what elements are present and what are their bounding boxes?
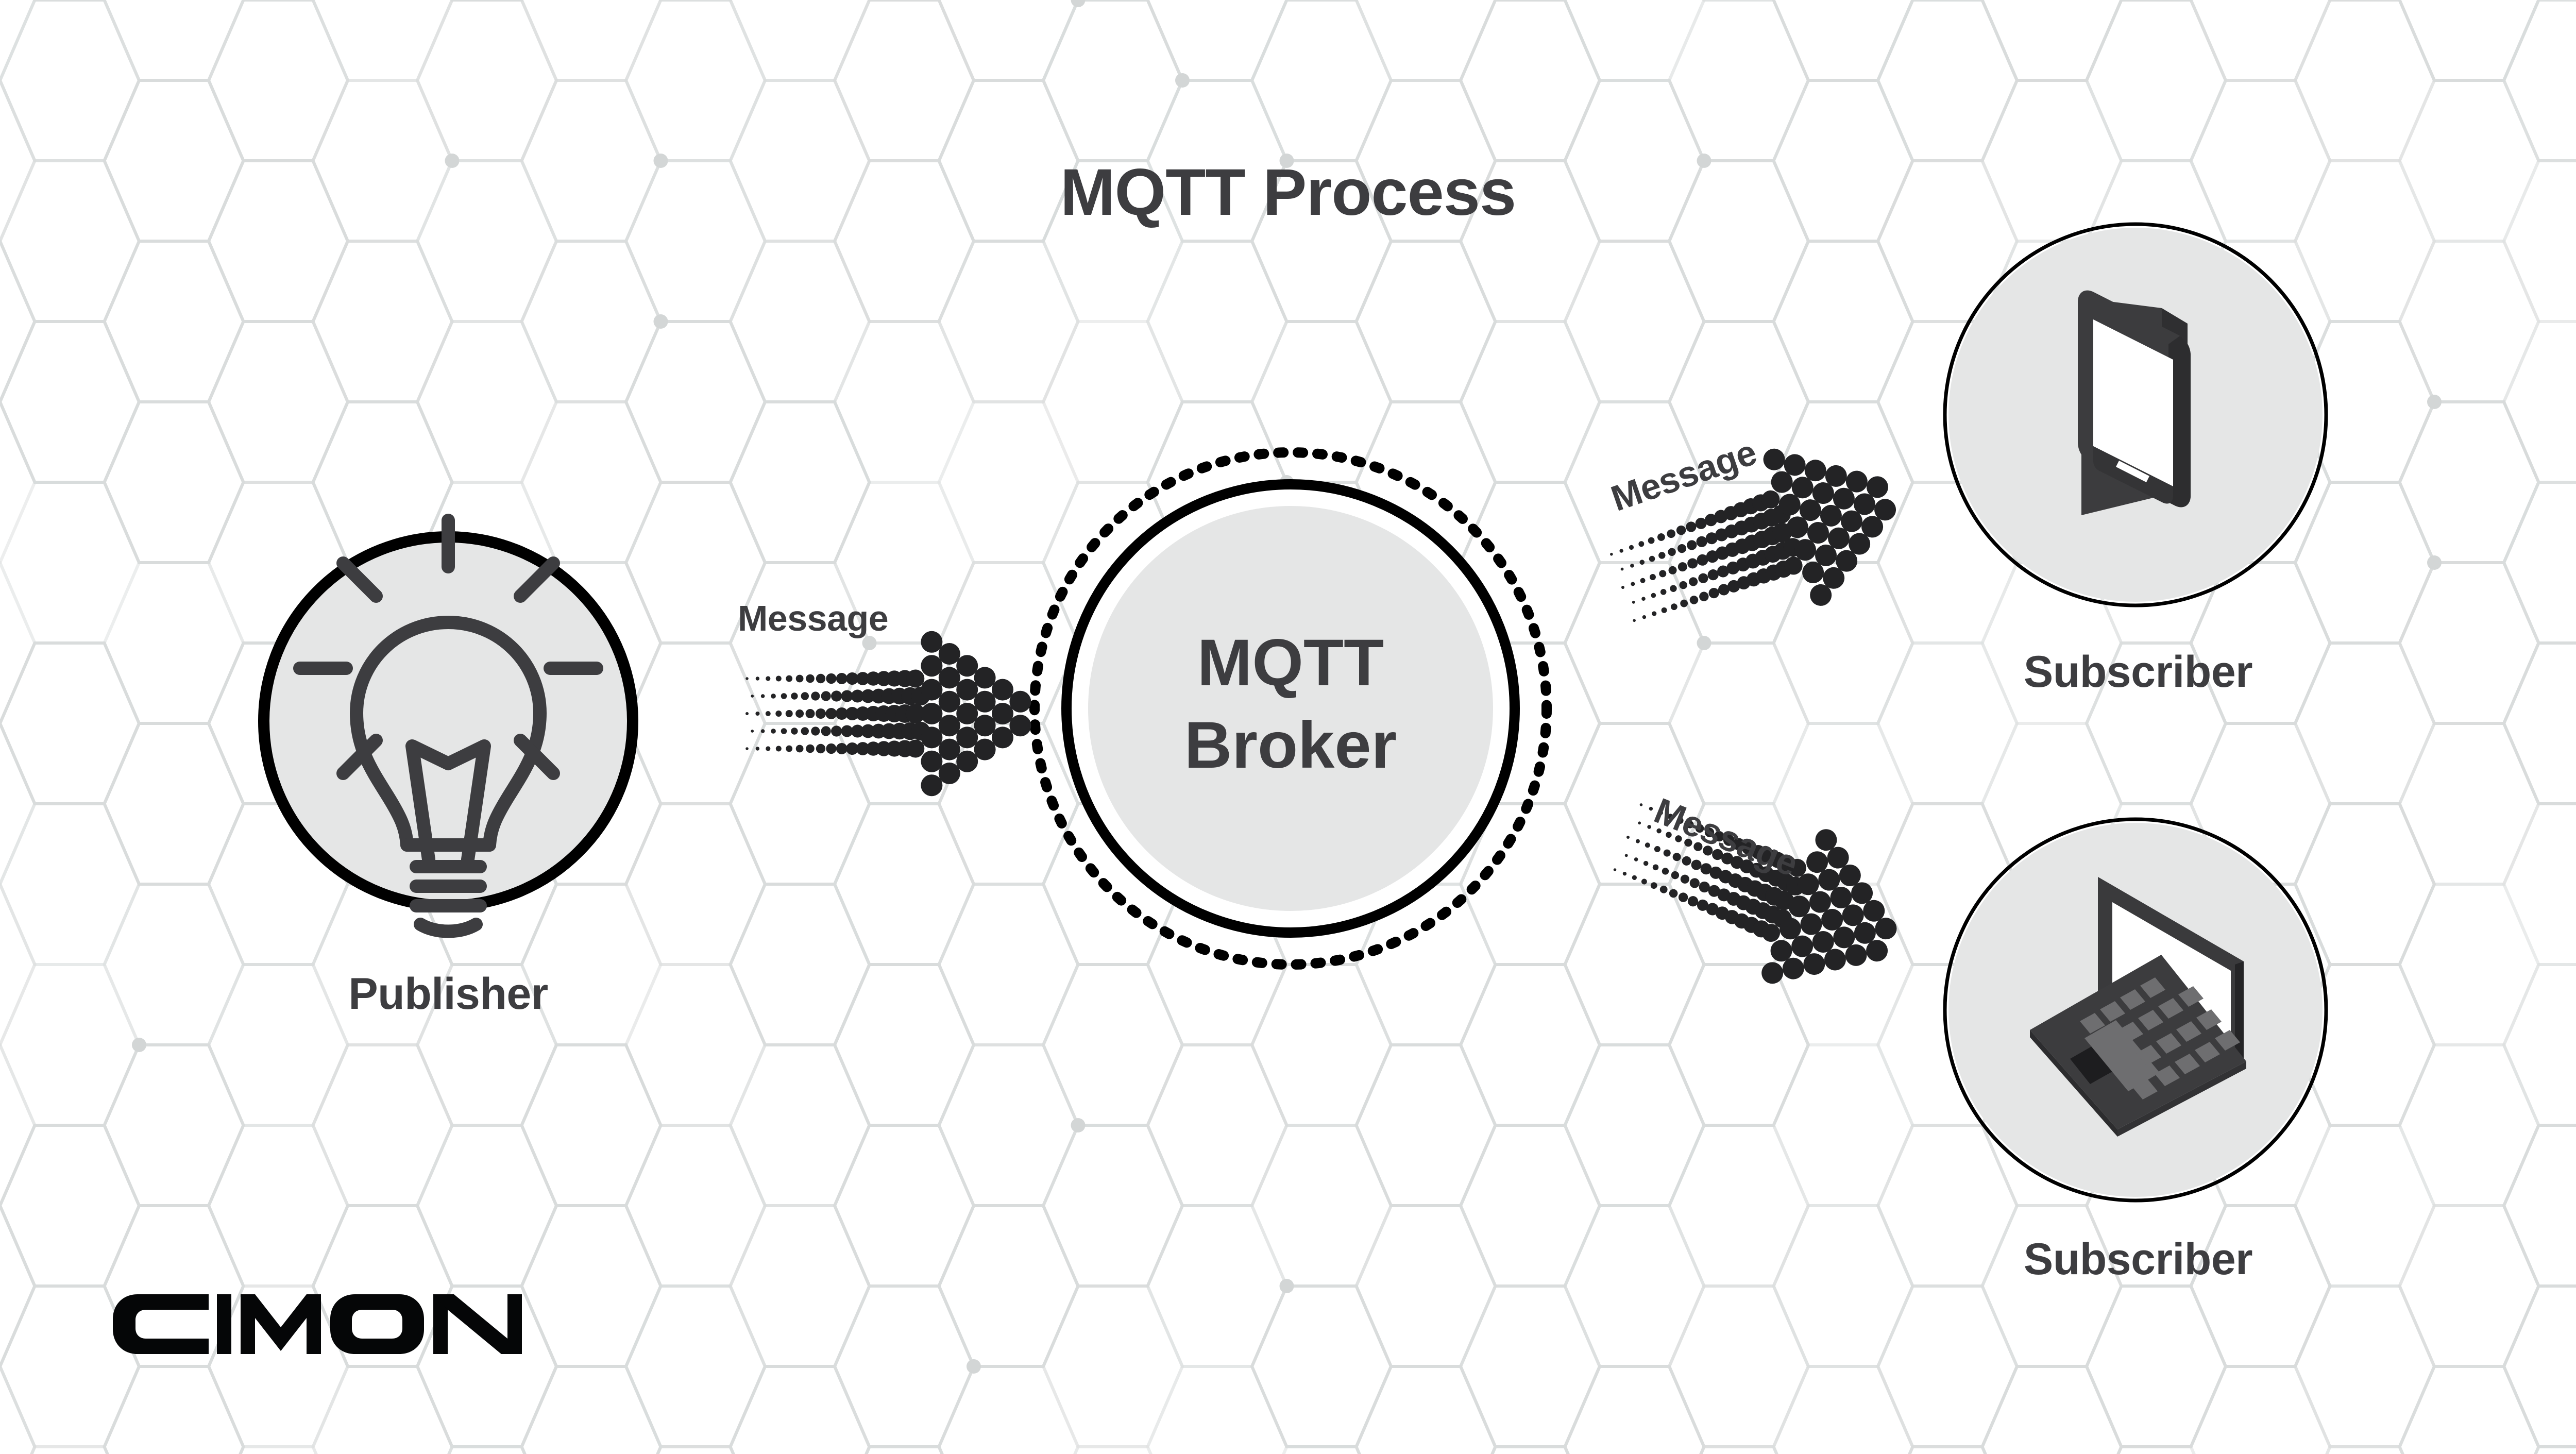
arrowhead-dot [1760,446,1788,473]
arrowhead-dot [974,691,996,713]
arrowhead-dot [921,726,942,748]
arrowhead-dot [956,751,978,772]
arrow-dot [1659,885,1669,894]
arrow-dot [776,746,782,752]
arrow-dot [1619,548,1623,553]
arrowhead-dot [939,739,960,760]
arrow-dot [755,712,759,716]
arrow-dot [821,726,831,736]
arrow-dot [796,675,804,683]
arrow-dot [1688,576,1699,587]
arrowhead-dot [956,655,978,677]
arrowhead-dot [921,679,942,701]
arrowhead-dot [992,703,1013,724]
arrow-dot [1676,543,1688,554]
arrow-dot [1629,545,1635,551]
arrow-dot [781,693,787,699]
arrow-dot [745,677,749,680]
cimon-logo [113,1294,522,1354]
arrow-dot [1622,871,1628,876]
arrow-dot [1677,891,1689,904]
smartphone-icon [2078,291,2191,515]
arrowhead-dot [1009,691,1031,713]
diagram-canvas: MQTT Broker [0,0,2576,1454]
arrow-dot [801,727,809,735]
arrow-dot [786,675,792,682]
arrow-dot [831,725,842,736]
broker-label-line1: MQTT [1197,626,1384,700]
arrow-dot [1650,881,1658,890]
arrow-dot [806,745,815,753]
arrow-dot [1631,874,1637,881]
arrow-dot [816,744,825,753]
arrowhead-dot [956,679,978,701]
arrow-dot [1660,606,1668,614]
arrow-dot [806,709,815,718]
arrow-dot [806,674,815,683]
arrow-dot [1659,588,1667,596]
arrow-dot [1667,565,1677,576]
publisher-node[interactable] [264,520,633,932]
arrow-publisher-to-broker [745,631,1031,796]
arrow-dot [751,695,754,698]
arrow-dot [825,708,837,719]
arrow-dot [775,711,782,717]
arrow-dot [786,746,792,752]
arrow-dot [831,690,842,701]
arrow-dot [821,691,831,701]
arrowhead-dot [992,679,1013,701]
arrowhead-dot [939,643,960,665]
arrow-dot [816,708,826,719]
subscriber-laptop-label: Subscriber [1947,1234,2329,1285]
arrowhead-dot [939,715,960,736]
subscriber-laptop-node[interactable] [1945,819,2326,1201]
arrow-dot [1635,838,1640,843]
arrow-dot [766,746,770,751]
arrow-dot [1669,584,1677,593]
arrow-dot [766,711,771,716]
arrowhead-dot [939,691,960,713]
arrowhead-dot [921,631,942,653]
arrow-dot [906,670,924,688]
arrow-dot [745,747,749,750]
arrowhead-dot [1758,959,1787,987]
arrow-dot [1637,821,1641,825]
arrow-dot [826,743,836,754]
arrow-dot [781,728,787,734]
arrow-broker-to-subscriber-laptop [1596,760,1922,1020]
broker-label-line2: Broker [1184,708,1397,782]
arrowhead-dot [921,774,942,796]
arrow-dot [1613,868,1617,871]
arrow-dot [1638,540,1645,548]
arrowhead-dot [974,739,996,760]
arrow-dot [791,728,798,734]
arrowhead-dot [974,667,996,688]
arrow-dot [1649,573,1656,581]
arrow-dot [1661,867,1670,875]
arrow-dot [1670,870,1680,881]
arrowhead-dot [939,763,960,784]
arrow-dot [1648,555,1656,563]
arrow-dot [776,676,782,682]
arrowhead-dot [1009,715,1031,736]
arrow-dot [796,745,804,753]
arrow-dot [811,691,820,700]
arrow-dot [1681,855,1692,867]
arrow-dot [1658,569,1667,579]
arrow-dot [761,729,765,733]
arrow-dot [786,710,793,717]
arrow-dot [836,673,848,684]
arrow-dot [1675,524,1687,536]
arrow-dot [1679,873,1690,885]
arrow-dot [1676,561,1688,573]
arrow-dot [771,694,776,699]
arrow-dot [1686,539,1698,551]
arrow-dot [1630,563,1635,568]
arrow-dot [791,692,798,699]
arrow-dot [766,676,770,681]
broker-node[interactable]: MQTT Broker [1035,452,1547,965]
arrow-dot [1671,852,1682,863]
arrow-dot [756,747,759,750]
arrowhead-dot [992,726,1013,748]
arrowhead-dot [956,726,978,748]
arrow-dot [771,729,776,734]
arrow-dot [1641,596,1646,601]
arrow-broker-to-subscriber-phone [1595,417,1919,666]
arrow-dot [826,673,836,684]
arrow-dot [1634,857,1639,862]
arrow-dot [1639,559,1645,565]
arrow-dot [1650,592,1656,598]
arrow-dot [801,692,809,700]
arrow-dot [1663,848,1672,857]
arrow-dot [1609,552,1613,556]
arrow-dot [1630,581,1635,586]
arrow-dot [1651,611,1657,617]
arrow-dot [816,674,825,683]
arrow-dot [1697,572,1709,584]
arrowhead-dot [974,715,996,736]
page-title: MQTT Process [0,155,2576,230]
arrow-dot [756,677,759,680]
arrow-dot [1652,864,1659,871]
arrow-dot [761,694,765,698]
publisher-label: Publisher [222,969,675,1020]
arrow-dot [1656,532,1666,542]
arrowhead-dot [939,667,960,688]
arrow-dot [1624,854,1629,858]
arrow-dot [1668,888,1679,899]
arrow-dot [1633,619,1636,622]
arrow-dot [1647,536,1655,545]
arrow-dot [1639,577,1646,584]
arrow-dot [1644,842,1651,849]
arrow-dot [1666,528,1676,539]
arrowhead-dot [921,703,942,724]
arrowhead-dot [956,703,978,724]
subscriber-phone-node[interactable] [1945,224,2326,605]
arrow-dot [1653,845,1662,853]
arrow-dot [1642,615,1647,619]
arrowhead-dot [921,655,942,677]
arrowhead-dot [921,751,942,772]
arrow-dot [1620,567,1624,571]
subscriber-phone-label: Subscriber [1947,647,2329,698]
arrow-dot [836,743,848,754]
arrow-dot [745,712,749,715]
arrow-dot [751,730,754,733]
arrow-dot [1642,860,1649,866]
arrow-dot [1688,595,1699,605]
arrow-dot [1678,580,1688,590]
arrow-dot [1657,551,1666,560]
arrow-dot [1626,835,1630,839]
arrow-dot [1639,803,1643,806]
arrow-dot [1640,878,1648,885]
arrow-dot [795,709,804,718]
arrow-dot [1649,806,1654,811]
arrow-dot [1670,603,1678,611]
arrow-dot [1621,585,1625,589]
message-label-publisher-to-broker: Message [738,598,888,639]
arrow-dot [1667,547,1677,557]
arrow-dot [1632,600,1635,604]
arrow-dot [811,726,820,735]
arrow-dot [1679,599,1689,608]
arrow-dot [906,740,924,758]
arrow-dot [1698,590,1710,602]
